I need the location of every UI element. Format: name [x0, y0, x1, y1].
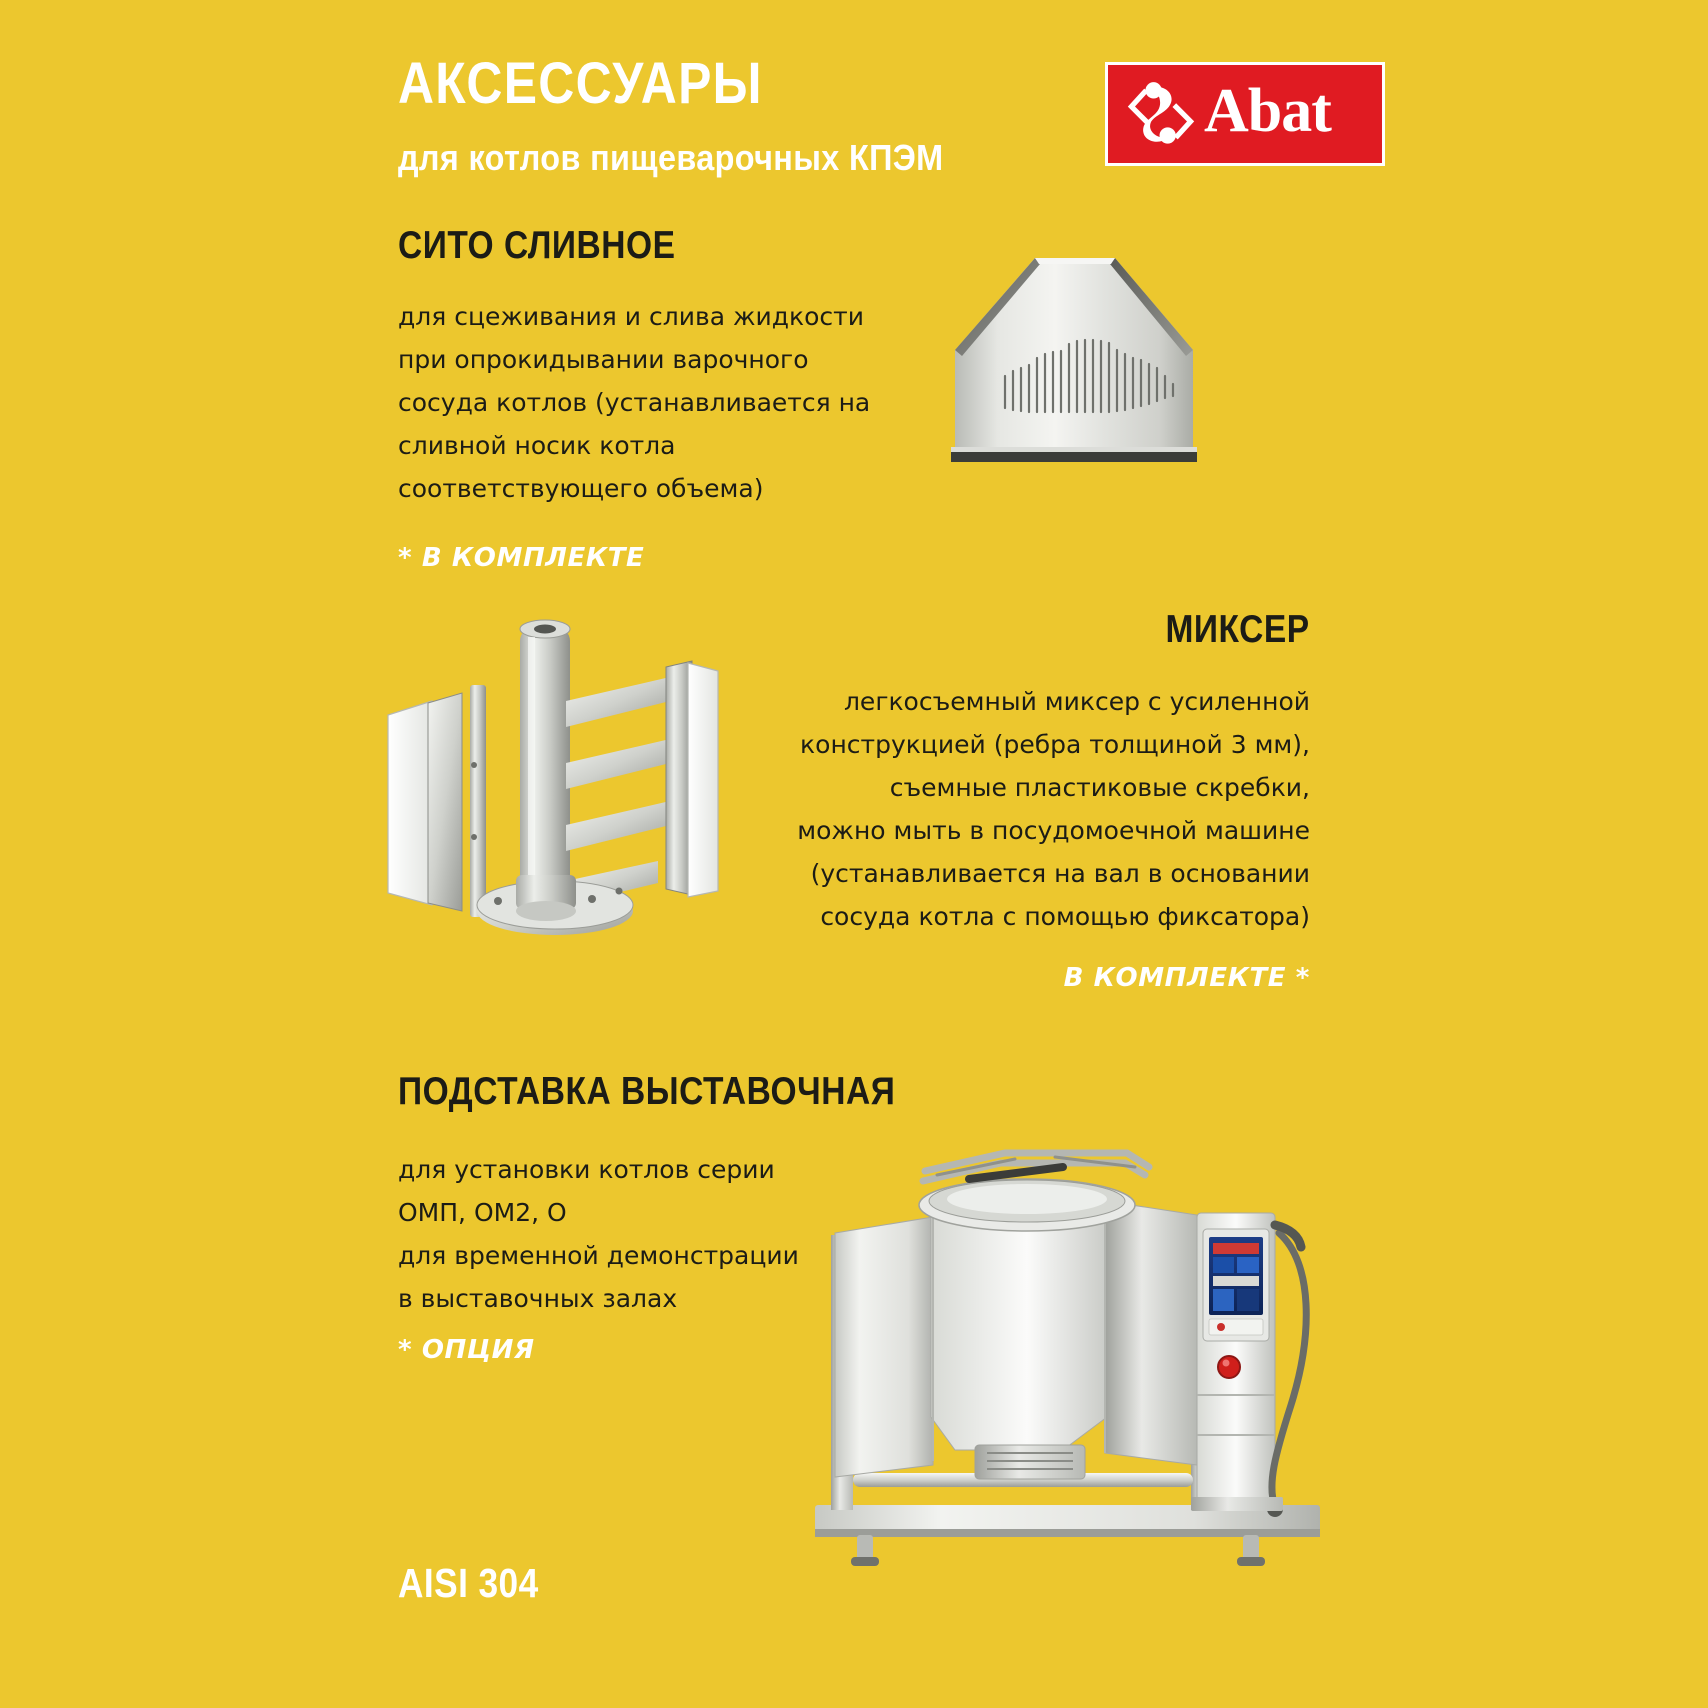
material-grade-label: AISI 304	[398, 1563, 539, 1604]
section-body-mixer: легкосъемный миксер с усиленной конструк…	[750, 680, 1310, 938]
section-note-sieve: * В КОМПЛЕКТЕ	[398, 545, 644, 571]
section-body-sieve: для сцеживания и слива жидкости при опро…	[398, 295, 918, 510]
abat-emblem-icon	[1124, 77, 1198, 151]
page-subtitle: для котлов пищеварочных КПЭМ	[398, 140, 944, 176]
brand-logo: Abat	[1105, 62, 1385, 166]
section-note-stand: * ОПЦИЯ	[398, 1337, 535, 1363]
poster-page: АКСЕССУАРЫ для котлов пищеварочных КПЭМ …	[0, 0, 1708, 1708]
section-title-sieve: СИТО СЛИВНОЕ	[398, 226, 676, 265]
page-title: АКСЕССУАРЫ	[398, 55, 763, 113]
section-body-stand: для установки котлов серии ОМП, ОМ2, О д…	[398, 1148, 868, 1320]
section-note-mixer: В КОМПЛЕКТЕ *	[1064, 965, 1310, 991]
mixer-photo	[370, 605, 750, 975]
drain-sieve-photo	[925, 238, 1305, 488]
section-title-mixer: МИКСЕР	[1166, 610, 1310, 649]
brand-logo-wordmark: Abat	[1204, 80, 1331, 142]
exhibition-stand-photo	[805, 1105, 1350, 1605]
